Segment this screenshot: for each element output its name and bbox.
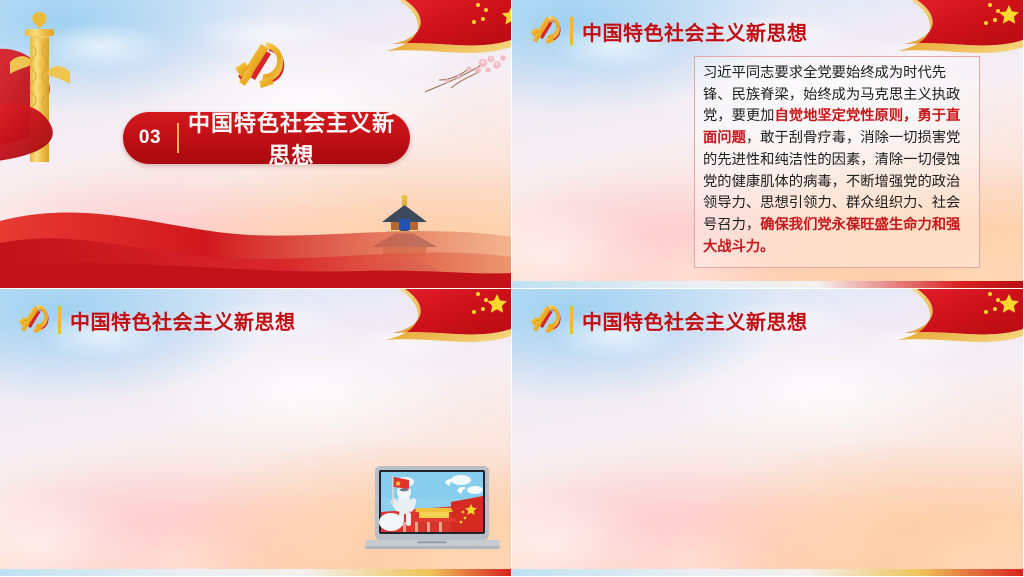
slide-2-content[interactable]: 中国特色社会主义新思想 bbox=[512, 0, 1024, 289]
laptop-illustration bbox=[365, 464, 500, 556]
cloud-band bbox=[512, 444, 1023, 576]
plum-blossom-branch-icon bbox=[421, 50, 507, 102]
header-divider bbox=[58, 306, 61, 334]
next-slide-peek-strip bbox=[0, 569, 511, 576]
slide-1-section-cover[interactable]: 03 中国特色社会主义新思想 bbox=[0, 0, 512, 289]
header-divider bbox=[570, 306, 573, 334]
slide-header: 中国特色社会主义新思想 bbox=[528, 12, 808, 50]
next-slide-peek-strip bbox=[512, 569, 1023, 576]
party-emblem-icon bbox=[528, 12, 566, 50]
slide-title: 中国特色社会主义新思想 bbox=[582, 306, 808, 335]
pill-divider bbox=[177, 123, 179, 153]
slide-header: 中国特色社会主义新思想 bbox=[528, 301, 808, 339]
huabiao-column-decoration bbox=[0, 10, 96, 200]
header-divider bbox=[570, 17, 573, 45]
quote-box: 习近平同志要求全党要始终成为时代先锋、民族脊梁，始终成为马克思主义执政党，要更加… bbox=[694, 56, 980, 268]
red-silk-wave-decoration bbox=[0, 183, 511, 288]
party-emblem-icon bbox=[16, 301, 54, 339]
slide-header: 中国特色社会主义新思想 bbox=[16, 301, 296, 339]
section-number: 03 bbox=[123, 127, 177, 149]
slide-title: 中国特色社会主义新思想 bbox=[582, 17, 808, 46]
slide-3-content[interactable]: 中国特色社会主义新思想 实践没有止境，理论创新也没有止境。世界每时每刻都在发生变… bbox=[0, 289, 512, 577]
section-title-text: 中国特色社会主义新思想 bbox=[179, 106, 410, 170]
party-emblem-icon bbox=[231, 36, 293, 98]
party-emblem-icon bbox=[528, 301, 566, 339]
slide-deck-grid: 03 中国特色社会主义新思想 bbox=[0, 0, 1024, 577]
next-slide-peek-strip bbox=[512, 281, 1023, 288]
slide-title: 中国特色社会主义新思想 bbox=[70, 306, 296, 335]
slide-4-content[interactable]: 中国特色社会主义新思想 明确坚持和发展中国特色社会主义，总任务是实现社会主义现代… bbox=[512, 289, 1024, 577]
section-title-pill[interactable]: 03 中国特色社会主义新思想 bbox=[123, 112, 410, 164]
